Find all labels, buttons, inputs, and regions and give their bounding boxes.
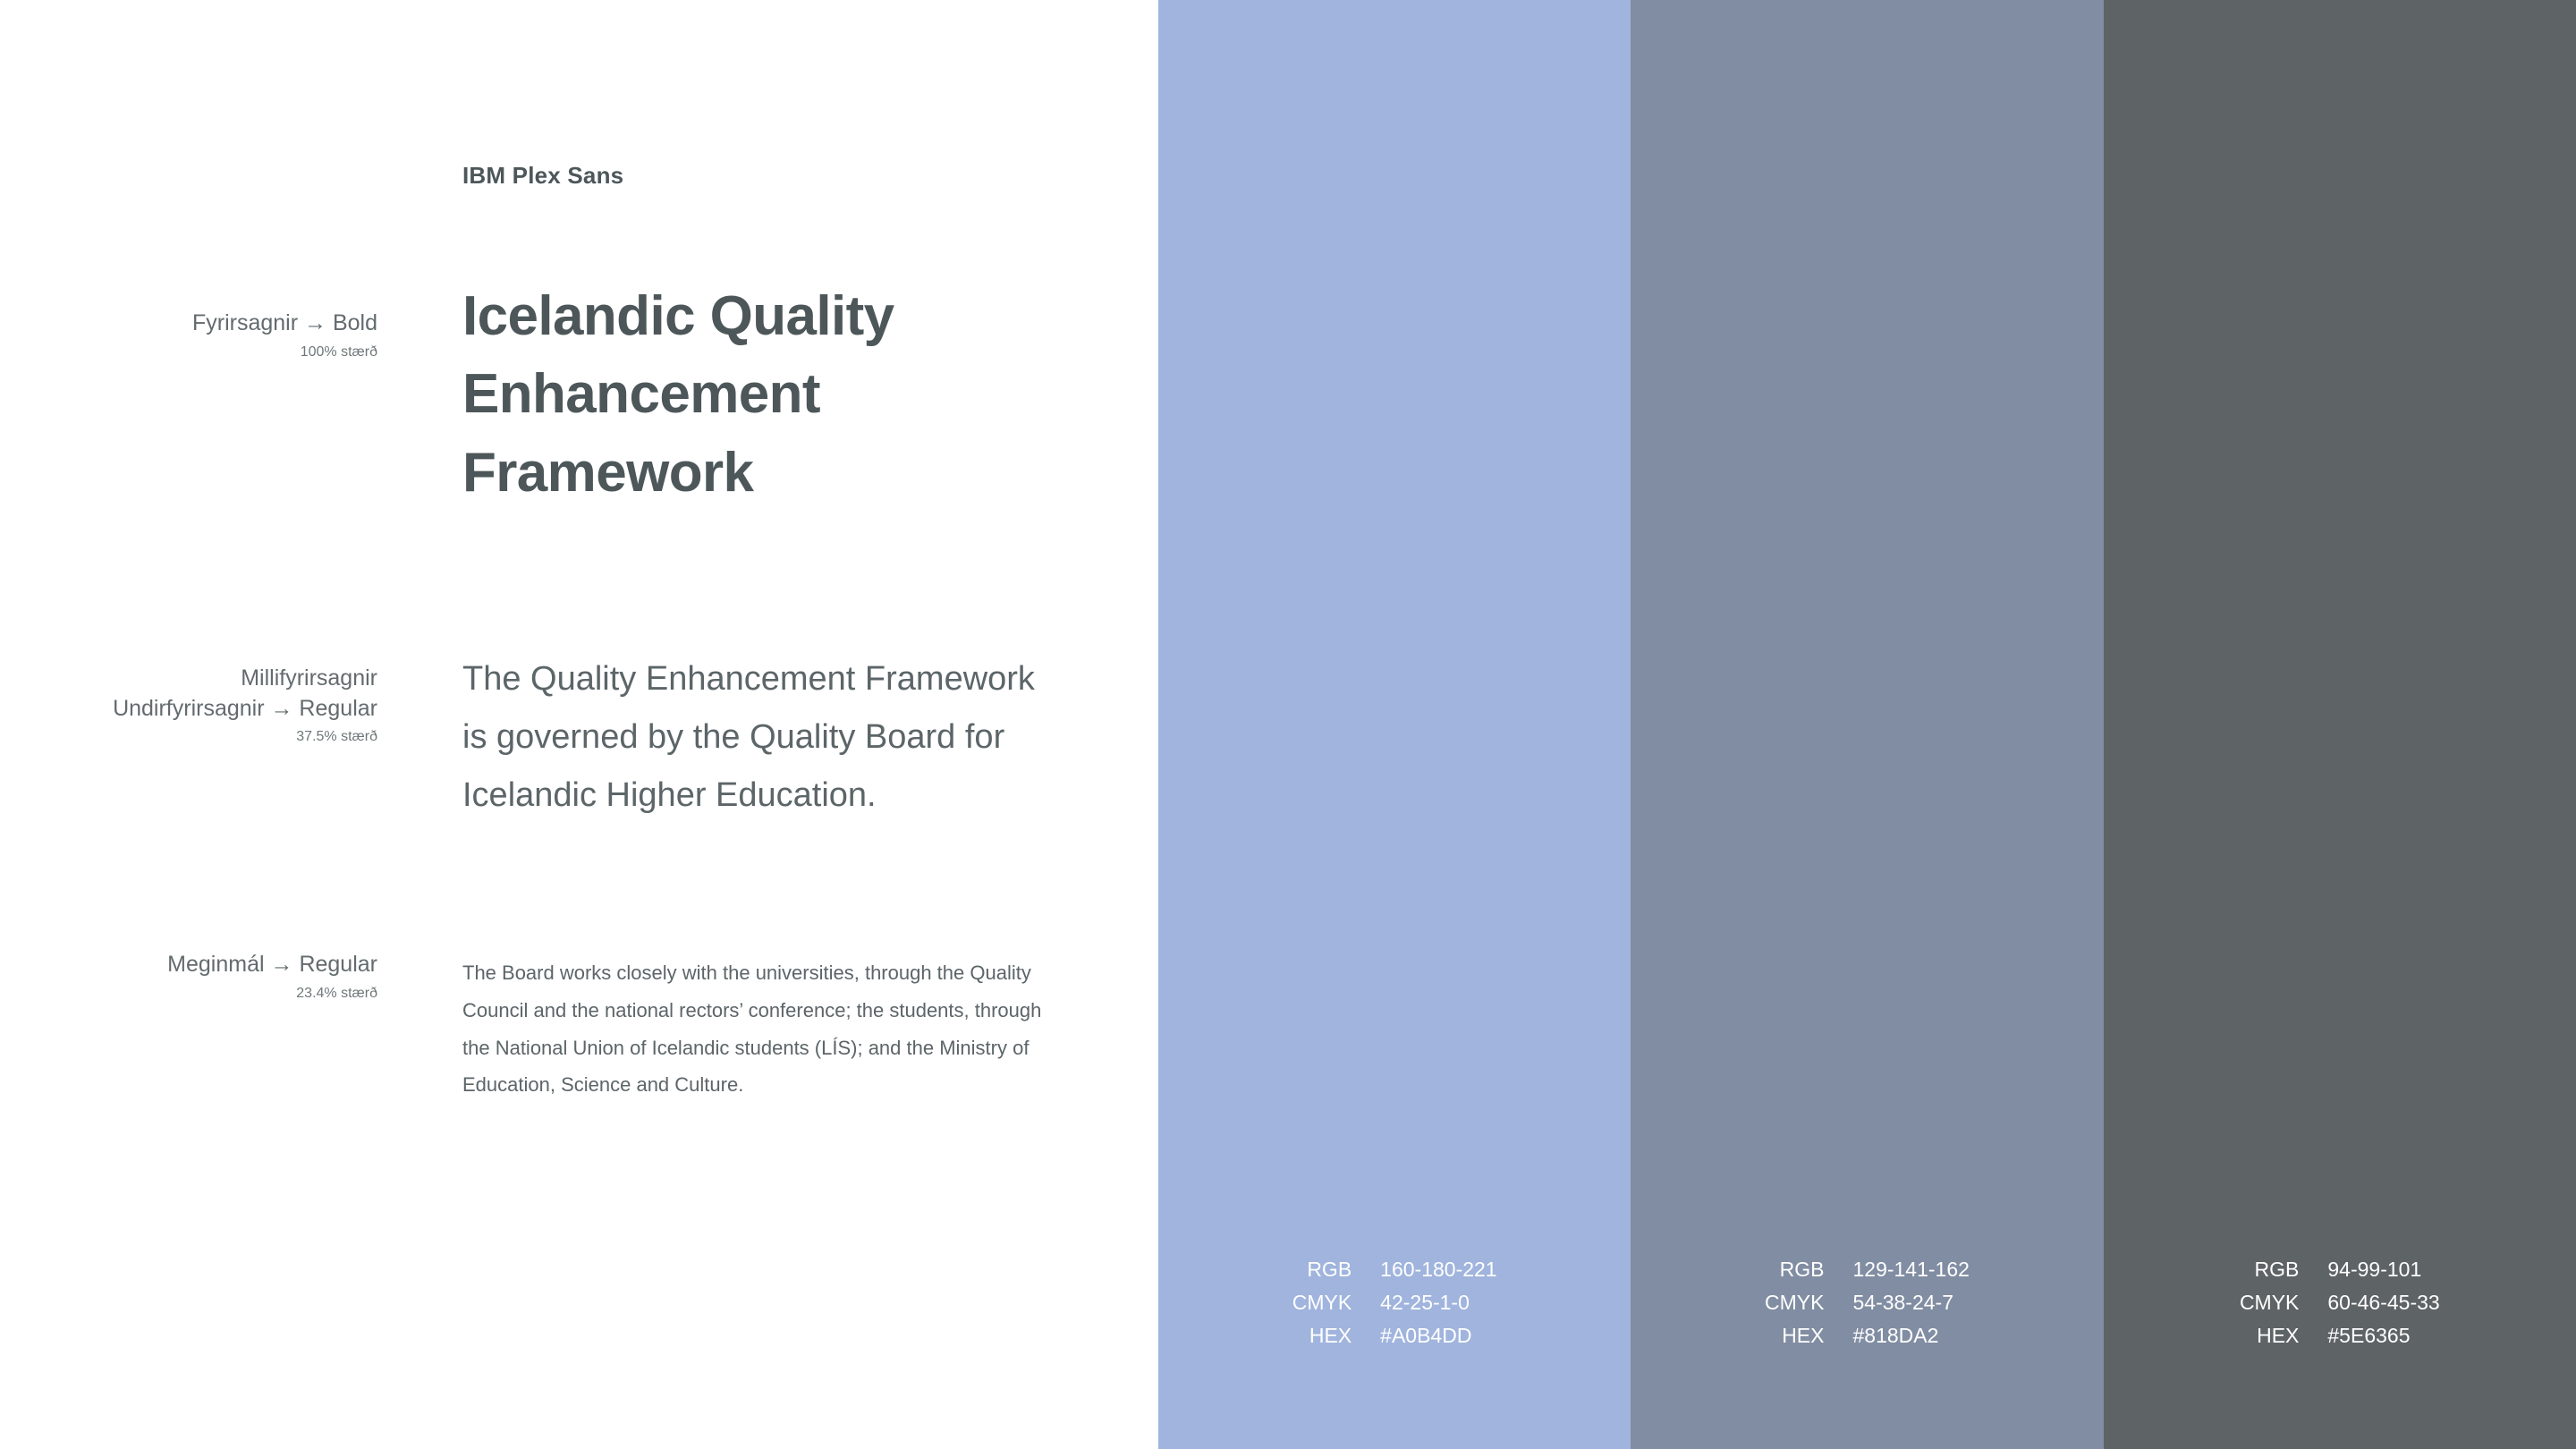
color-swatch-info: RGB 129-141-162 CMYK 54-38-24-7 HEX #818…	[1631, 1257, 2103, 1349]
annotation-heading-size: 100% stærð	[29, 344, 377, 360]
color-value-hex: #A0B4DD	[1380, 1323, 1496, 1349]
color-swatch-slate-blue: RGB 129-141-162 CMYK 54-38-24-7 HEX #818…	[1631, 0, 2103, 1449]
annotation-subheading-label: Millifyrirsagnir Undirfyrirsagnir → Regu…	[29, 664, 377, 724]
color-key-cmyk: CMYK	[1765, 1290, 1824, 1316]
color-key-rgb: RGB	[1765, 1257, 1824, 1283]
specimen-body-text: The Board works closely with the univers…	[462, 954, 1053, 1104]
annotation-heading: Fyrirsagnir → Bold 100% stærð	[29, 309, 377, 360]
color-key-hex: HEX	[2240, 1323, 2299, 1349]
color-key-hex: HEX	[1765, 1323, 1824, 1349]
color-value-cmyk: 54-38-24-7	[1852, 1290, 1969, 1316]
color-values-table: RGB 129-141-162 CMYK 54-38-24-7 HEX #818…	[1765, 1257, 1970, 1349]
color-value-cmyk: 60-46-45-33	[2327, 1290, 2439, 1316]
color-swatch-info: RGB 94-99-101 CMYK 60-46-45-33 HEX #5E63…	[2104, 1257, 2576, 1349]
annotation-body-label: Meginmál → Regular	[29, 950, 377, 980]
color-key-rgb: RGB	[2240, 1257, 2299, 1283]
annotation-heading-label: Fyrirsagnir → Bold	[29, 309, 377, 339]
color-key-cmyk: CMYK	[2240, 1290, 2299, 1316]
color-swatch-light-blue: RGB 160-180-221 CMYK 42-25-1-0 HEX #A0B4…	[1158, 0, 1631, 1449]
annotation-subheading-size: 37.5% stærð	[29, 729, 377, 745]
font-family-name: IBM Plex Sans	[462, 162, 623, 190]
color-value-hex: #818DA2	[1852, 1323, 1969, 1349]
specimen-subheading-text: The Quality Enhancement Framework is gov…	[462, 650, 1035, 825]
color-value-hex: #5E6365	[2327, 1323, 2439, 1349]
color-value-rgb: 160-180-221	[1380, 1257, 1496, 1283]
color-key-hex: HEX	[1292, 1323, 1352, 1349]
color-value-cmyk: 42-25-1-0	[1380, 1290, 1496, 1316]
annotation-body-size: 23.4% stærð	[29, 986, 377, 1002]
brand-typography-page: IBM Plex Sans Fyrirsagnir → Bold 100% st…	[0, 0, 2576, 1449]
color-values-table: RGB 160-180-221 CMYK 42-25-1-0 HEX #A0B4…	[1292, 1257, 1497, 1349]
annotation-subheading: Millifyrirsagnir Undirfyrirsagnir → Regu…	[29, 664, 377, 745]
typography-panel: IBM Plex Sans Fyrirsagnir → Bold 100% st…	[0, 0, 1158, 1449]
color-swatch-info: RGB 160-180-221 CMYK 42-25-1-0 HEX #A0B4…	[1158, 1257, 1631, 1349]
specimen-heading-text: Icelandic Quality Enhancement Framework	[462, 277, 1089, 512]
annotation-body: Meginmál → Regular 23.4% stærð	[29, 950, 377, 1002]
color-values-table: RGB 94-99-101 CMYK 60-46-45-33 HEX #5E63…	[2240, 1257, 2440, 1349]
color-swatch-dark-grey: RGB 94-99-101 CMYK 60-46-45-33 HEX #5E63…	[2104, 0, 2576, 1449]
color-palette: RGB 160-180-221 CMYK 42-25-1-0 HEX #A0B4…	[1158, 0, 2576, 1449]
color-key-cmyk: CMYK	[1292, 1290, 1352, 1316]
color-value-rgb: 129-141-162	[1852, 1257, 1969, 1283]
color-key-rgb: RGB	[1292, 1257, 1352, 1283]
color-value-rgb: 94-99-101	[2327, 1257, 2439, 1283]
